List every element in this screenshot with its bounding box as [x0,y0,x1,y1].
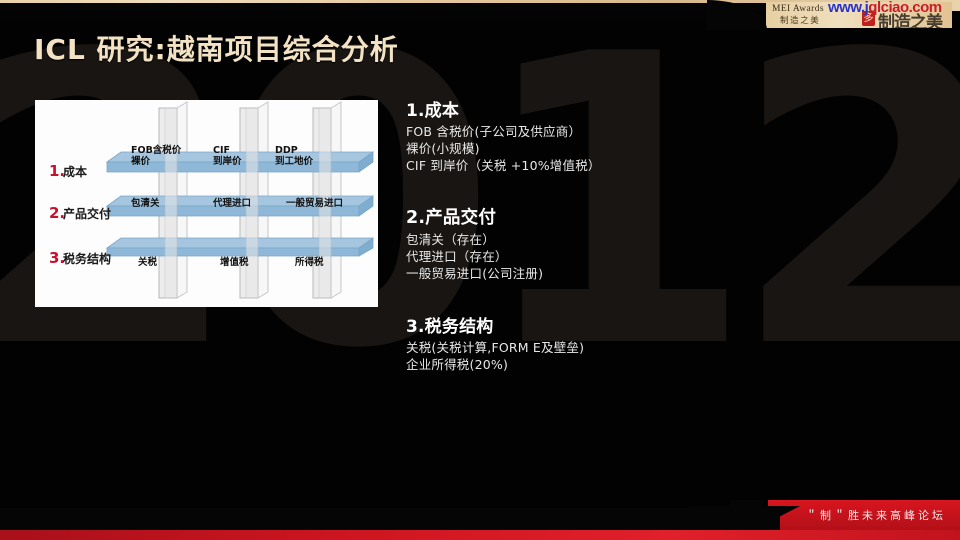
section-cost-line-2: 裸价(小规模) [406,140,746,157]
section-cost: 1.成本 FOB 含税价(子公司及供应商） 裸价(小规模) CIF 到岸价（关税… [406,96,746,174]
analysis-content-column: 1.成本 FOB 含税价(子公司及供应商） 裸价(小规模) CIF 到岸价（关税… [406,96,746,373]
section-delivery-line-3: 一般贸易进口(公司注册) [406,265,746,282]
bottom-black-band [0,508,780,530]
cost-delivery-tax-diagram: 1. 成本 2. 产品交付 3. 税务结构 FOB含税价 裸价 CIF 到岸价 … [35,100,378,307]
cell-r2c1: 包清关 [130,197,160,209]
section-cost-heading: 1.成本 [406,96,746,121]
section-tax: 3.税务结构 关税(关税计算,FORM E及壁垒) 企业所得税(20%) [406,312,746,373]
section-delivery-heading: 2.产品交付 [406,204,746,229]
site-url-part-1: www.j [828,0,868,16]
cell-r1c2-top: CIF [213,145,230,156]
section-tax-line-2: 企业所得税(20%) [406,356,746,373]
site-url-part-2: qlciao.com [868,0,941,16]
row-label-group: 1. 成本 2. 产品交付 3. 税务结构 [49,162,111,267]
cell-r2c2: 代理进口 [212,197,251,209]
section-delivery-line-1: 包清关（存在） [406,231,746,248]
row-3-label: 税务结构 [63,251,111,266]
page-title: ICL 研究:越南项目综合分析 [34,28,399,68]
logo-en-text: MEI Awards [772,4,824,14]
cell-r1c1-bottom: 裸价 [131,155,151,167]
row-2-label: 产品交付 [63,206,111,221]
cell-r2c3: 一般贸易进口 [286,197,343,209]
logo-cn-text: 制造之美 [780,14,820,26]
cell-r1c1-top: FOB含税价 [131,144,182,156]
cell-r1c2-bottom: 到岸价 [213,155,242,167]
section-cost-line-1: FOB 含税价(子公司及供应商） [406,123,746,140]
section-cost-line-3: CIF 到岸价（关税 +10%增值税） [406,157,746,174]
cell-r3c1: 关税 [138,256,158,268]
bottom-tab-shade [730,500,782,526]
section-tax-heading: 3.税务结构 [406,312,746,337]
cell-r3c2: 增值税 [220,256,249,268]
cell-r1c3-bottom: 到工地价 [275,155,314,167]
cell-r3c3: 所得税 [295,256,324,268]
site-url-watermark: www.jqlciao.com [828,0,942,16]
cell-r1c3-top: DDP [275,145,298,156]
diagram-svg: 1. 成本 2. 产品交付 3. 税务结构 FOB含税价 裸价 CIF 到岸价 … [35,100,378,307]
slide-canvas: 2012 MEI Awards 制造之美 多 制造之美 www.jqlciao.… [0,0,960,540]
section-delivery-line-2: 代理进口（存在） [406,248,746,265]
row-1-label: 成本 [63,164,87,179]
section-tax-line-1: 关税(关税计算,FORM E及壁垒) [406,339,746,356]
section-delivery: 2.产品交付 包清关（存在） 代理进口（存在） 一般贸易进口(公司注册) [406,204,746,282]
bottom-slogan: ＂制＂胜未来高峰论坛 [806,507,946,523]
